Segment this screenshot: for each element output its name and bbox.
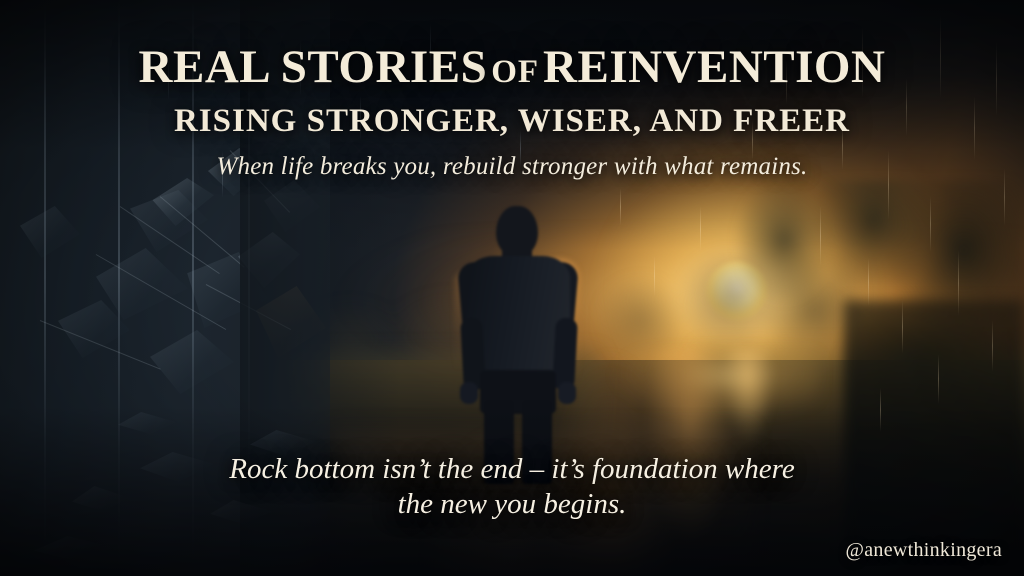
headline-part-1: REAL STORIES — [139, 41, 488, 93]
page-subtitle: RISING STRONGER, WISER, AND FREER — [0, 105, 1024, 138]
text-overlay: REAL STORIESOFREINVENTION RISING STRONGE… — [0, 0, 1024, 576]
social-handle: @anewthinkingera — [846, 539, 1003, 562]
pull-quote: Rock bottom isn’t the end – it’s foundat… — [0, 452, 1024, 523]
page-title: REAL STORIESOFREINVENTION — [0, 44, 1024, 91]
quote-line-1: Rock bottom isn’t the end – it’s foundat… — [0, 452, 1024, 487]
headline-of: OF — [487, 54, 543, 90]
tagline: When life breaks you, rebuild stronger w… — [0, 153, 1024, 181]
quote-line-2: the new you begins. — [0, 487, 1024, 522]
poster-canvas: REAL STORIESOFREINVENTION RISING STRONGE… — [0, 0, 1024, 576]
headline-part-2: REINVENTION — [543, 41, 885, 93]
